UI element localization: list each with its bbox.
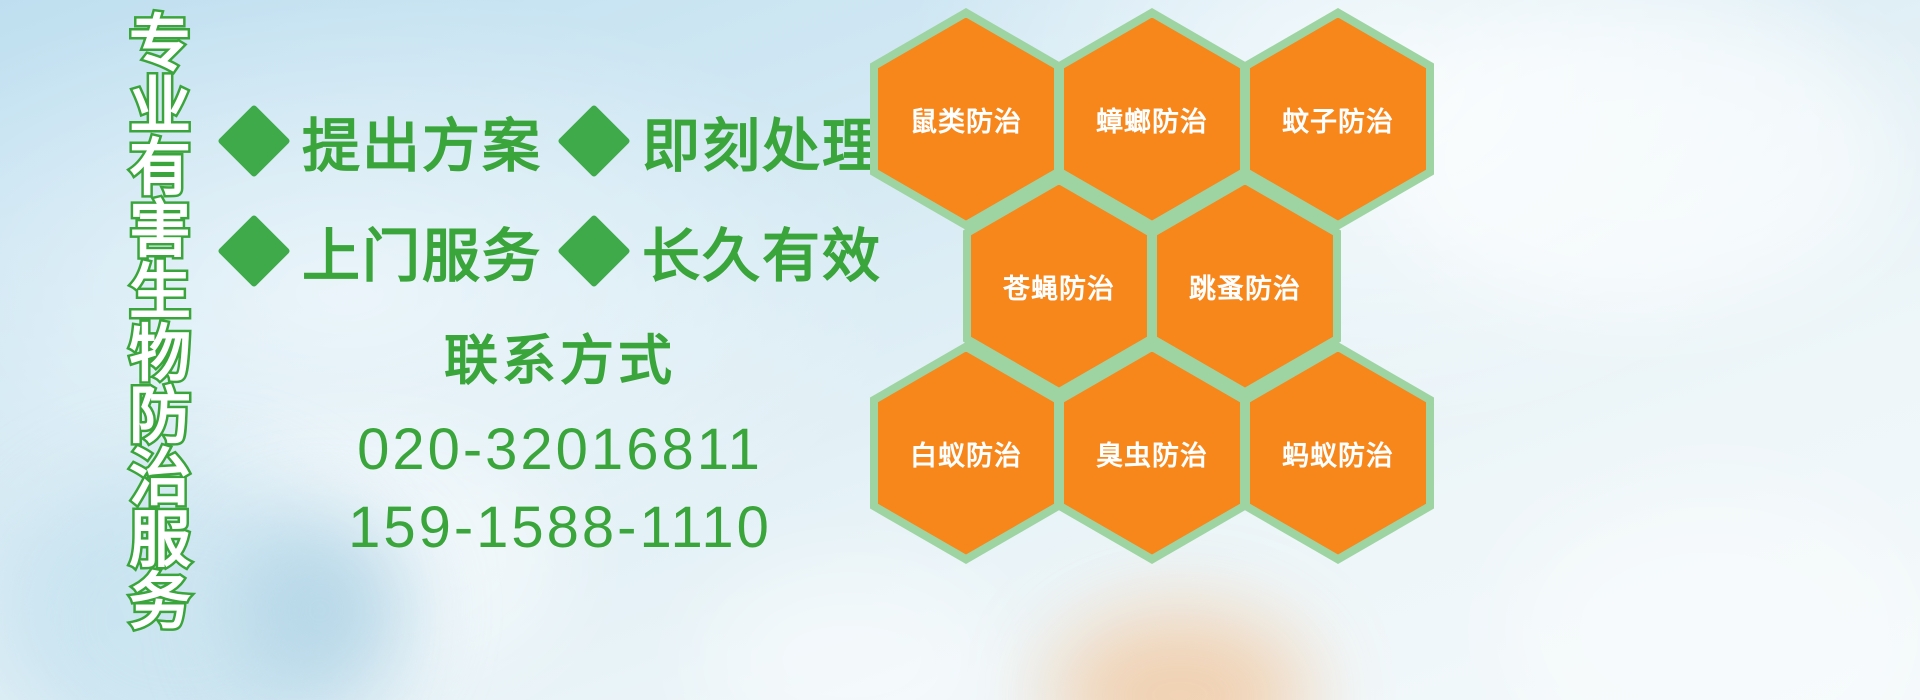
- vertical-headline-char: 专: [129, 14, 191, 76]
- service-hex-label: 蚂蚁防治: [1282, 434, 1394, 473]
- hex-inner: 蚊子防治: [1250, 18, 1426, 221]
- feature-row: 提出方案 即刻处理: [228, 86, 878, 196]
- vertical-headline-char: 业: [129, 76, 191, 138]
- phone-number-mobile[interactable]: 159-1588-1110: [300, 489, 820, 567]
- service-hex-label: 鼠类防治: [910, 100, 1022, 139]
- feature-row: 上门服务 长久有效: [228, 196, 878, 306]
- feature-label: 长久有效: [642, 209, 882, 293]
- hex-inner: 白蚁防治: [878, 352, 1054, 555]
- vertical-headline-char: 防: [129, 386, 191, 448]
- background-bokeh-blob: [1500, 480, 1920, 700]
- vertical-headline-char: 害: [129, 200, 191, 262]
- vertical-headline-char: 治: [129, 448, 191, 510]
- feature-label: 上门服务: [302, 209, 542, 293]
- feature-label: 提出方案: [302, 99, 542, 183]
- feature-list: 提出方案 即刻处理 上门服务 长久有效: [228, 86, 878, 306]
- hex-inner: 苍蝇防治: [971, 185, 1147, 388]
- contact-title: 联系方式: [300, 316, 820, 395]
- service-hexagon-grid: 鼠类防治 蟑螂防治 蚊子防治 苍蝇防治 跳蚤防治 白蚁防治: [862, 0, 1462, 568]
- background-bokeh-blob: [1050, 610, 1310, 700]
- service-hex-label: 跳蚤防治: [1189, 267, 1301, 306]
- vertical-headline-char: 服: [129, 510, 191, 572]
- diamond-icon: [217, 104, 291, 178]
- contact-block: 联系方式 020-32016811 159-1588-1110: [300, 316, 820, 568]
- diamond-icon: [557, 104, 631, 178]
- vertical-headline-char: 物: [129, 324, 191, 386]
- pest-control-banner: 专 业 有 害 生 物 防 治 服 务 提出方案 即刻处理 上门服务 长久有效 …: [0, 0, 1920, 700]
- background-bokeh-blob: [700, 560, 1000, 700]
- service-hex-label: 白蚁防治: [910, 434, 1022, 473]
- service-hex-label: 蟑螂防治: [1096, 100, 1208, 139]
- feature-label: 即刻处理: [642, 99, 882, 183]
- diamond-icon: [557, 214, 631, 288]
- service-hex-label: 臭虫防治: [1096, 434, 1208, 473]
- hex-inner: 跳蚤防治: [1157, 185, 1333, 388]
- hex-inner: 蚂蚁防治: [1250, 352, 1426, 555]
- vertical-headline-char: 生: [129, 262, 191, 324]
- phone-number-landline[interactable]: 020-32016811: [300, 411, 820, 489]
- service-hex-label: 苍蝇防治: [1003, 267, 1115, 306]
- hex-inner: 臭虫防治: [1064, 352, 1240, 555]
- service-hex-label: 蚊子防治: [1282, 100, 1394, 139]
- vertical-headline: 专 业 有 害 生 物 防 治 服 务: [108, 14, 212, 554]
- hex-inner: 蟑螂防治: [1064, 18, 1240, 221]
- diamond-icon: [217, 214, 291, 288]
- vertical-headline-char: 务: [129, 572, 191, 634]
- hex-inner: 鼠类防治: [878, 18, 1054, 221]
- vertical-headline-char: 有: [129, 138, 191, 200]
